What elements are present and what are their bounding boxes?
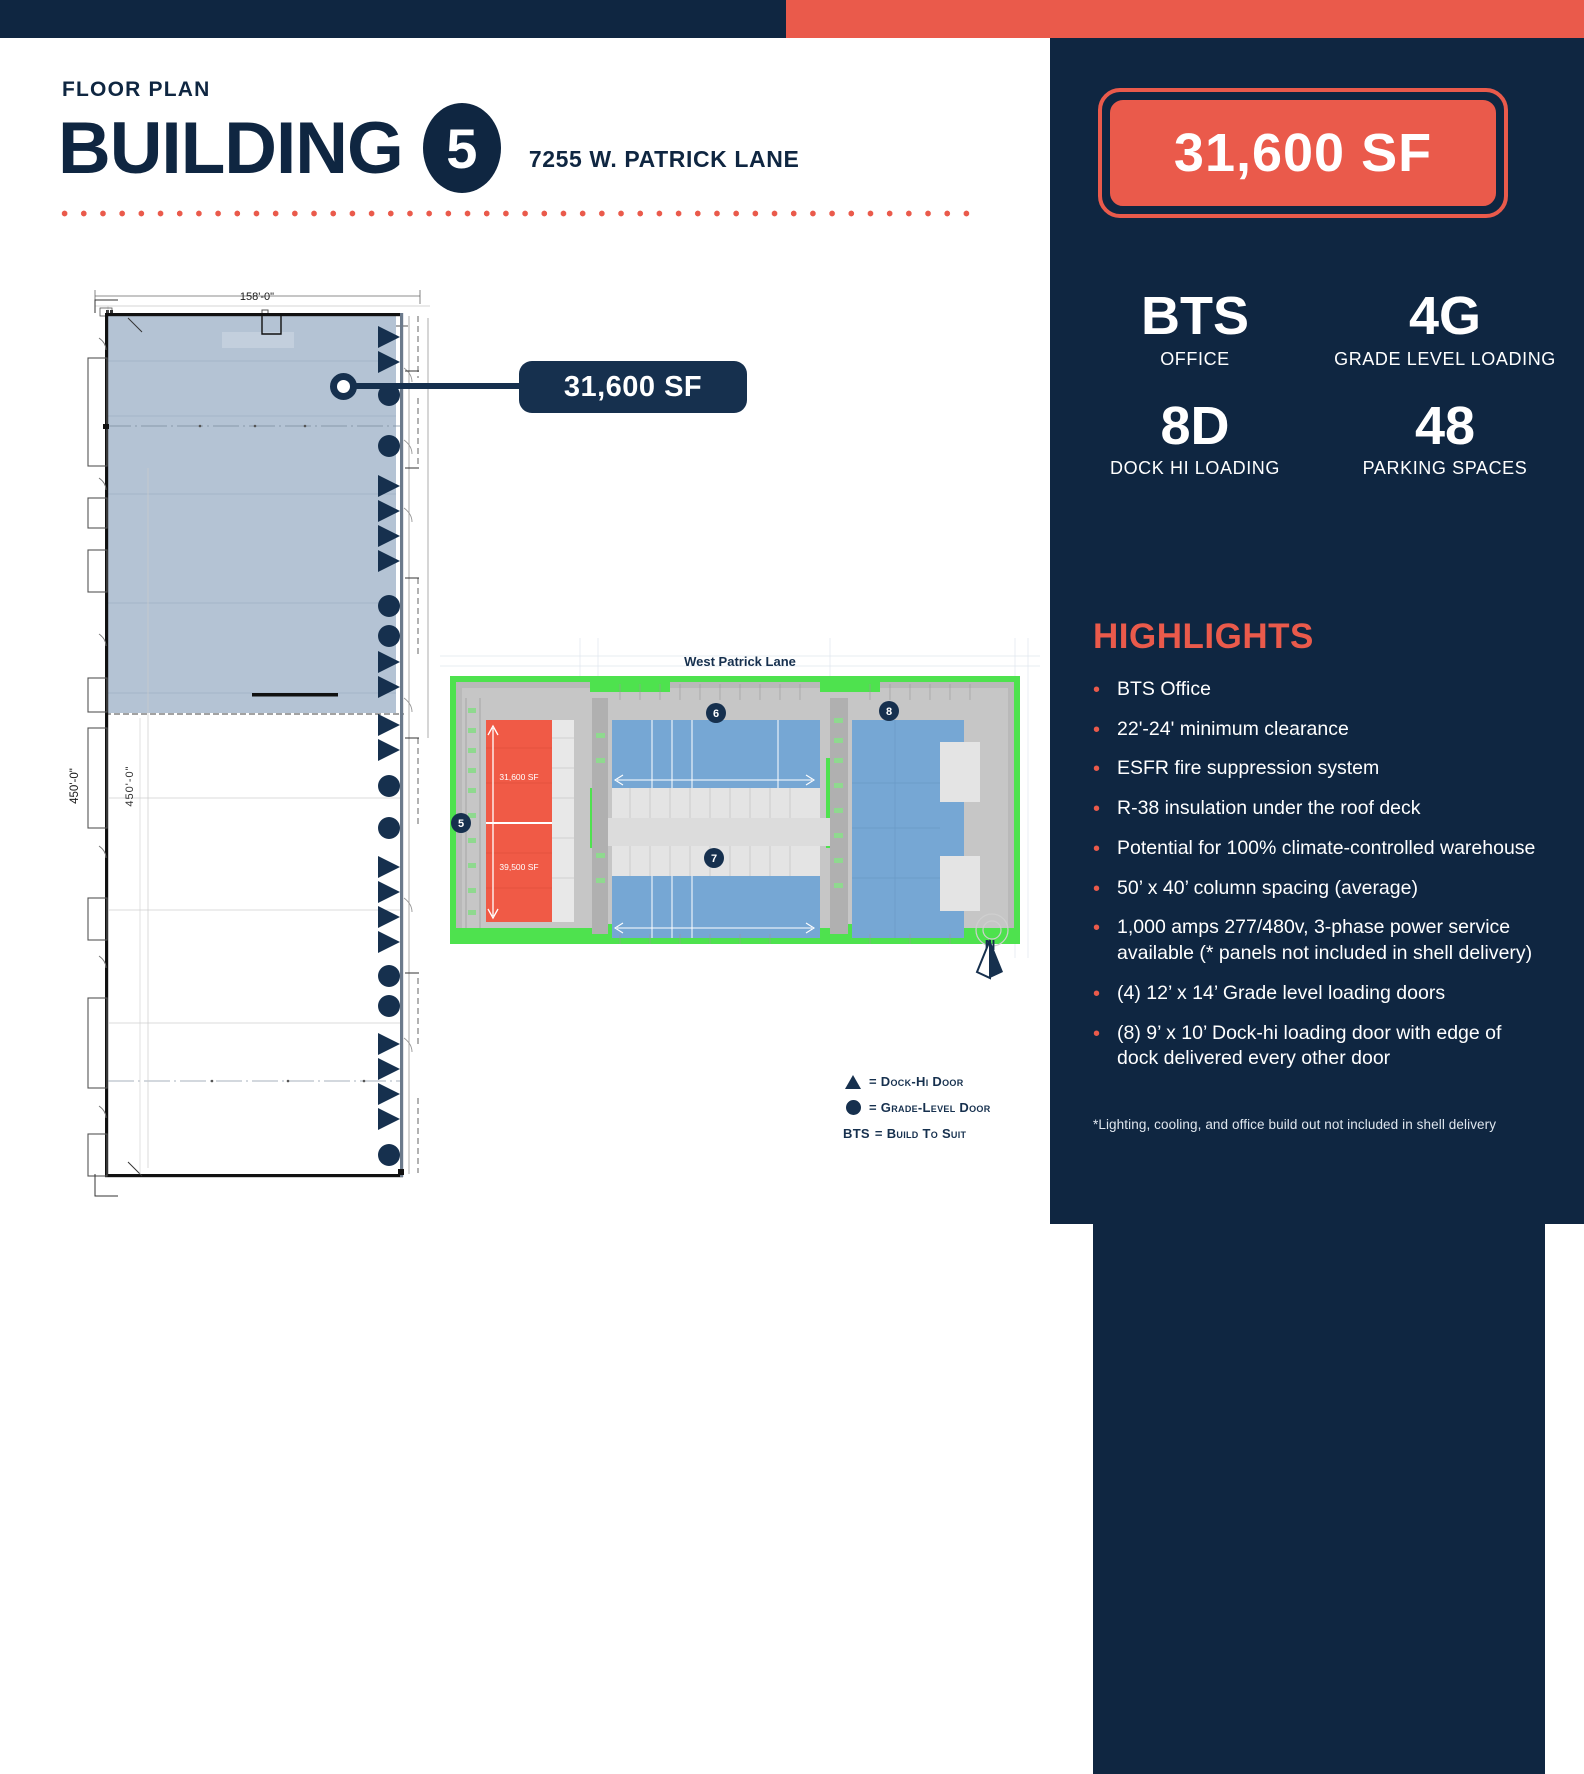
stat-parking-label: PARKING SPACES xyxy=(1320,458,1570,479)
list-item: • 50’ x 40’ column spacing (average) xyxy=(1093,876,1543,902)
svg-text:158'-0": 158'-0" xyxy=(240,291,274,303)
stats-grid: BTS OFFICE 4G GRADE LEVEL LOADING 8D DOC… xyxy=(1070,288,1570,507)
svg-text:450'-0": 450'-0" xyxy=(69,768,81,804)
top-banner xyxy=(0,0,1584,38)
floorplan-sf-callout: 31,600 SF xyxy=(519,361,747,413)
list-item: • (8) 9’ x 10’ Dock-hi loading door with… xyxy=(1093,1021,1543,1072)
legend-bts-label: = Build To Suit xyxy=(875,1126,966,1141)
svg-text:5: 5 xyxy=(458,818,464,830)
list-item: • ESFR fire suppression system xyxy=(1093,756,1543,782)
bullet-icon: • xyxy=(1093,836,1117,862)
legend-row-grade-level: = Grade-Level Door xyxy=(843,1099,1043,1116)
list-item: • 22'-24' minimum clearance xyxy=(1093,717,1543,743)
left-panel: FLOOR PLAN BUILDING 5 7255 W. PATRICK LA… xyxy=(0,38,1050,1224)
legend-row-dock-hi: = Dock-Hi Door xyxy=(843,1073,1043,1090)
stat-dock-hi-value: 8D xyxy=(1070,398,1320,455)
list-item: • BTS Office xyxy=(1093,677,1543,703)
bullet-icon: • xyxy=(1093,756,1117,782)
callout-leader-line xyxy=(345,383,525,389)
siteplan-marker-8: 8 xyxy=(879,701,899,721)
bullet-icon: • xyxy=(1093,796,1117,822)
stat-office-label: OFFICE xyxy=(1070,349,1320,370)
siteplan-suite-b-label: 39,500 SF xyxy=(499,862,538,872)
floor-plan-flyer: FLOOR PLAN BUILDING 5 7255 W. PATRICK LA… xyxy=(0,0,1584,1224)
stat-parking-spaces: 48 PARKING SPACES xyxy=(1320,398,1570,480)
bullet-icon: • xyxy=(1093,677,1117,703)
stat-grade-level-value: 4G xyxy=(1320,288,1570,345)
stat-office: BTS OFFICE xyxy=(1070,288,1320,370)
north-arrow-icon xyxy=(970,938,1010,982)
legend-grade-level-label: = Grade-Level Door xyxy=(869,1100,991,1115)
stats-row-1: BTS OFFICE 4G GRADE LEVEL LOADING xyxy=(1070,288,1570,398)
stat-office-value: BTS xyxy=(1070,288,1320,345)
list-item: • Potential for 100% climate-controlled … xyxy=(1093,836,1543,862)
banner-coral-block xyxy=(786,0,1584,38)
stat-parking-value: 48 xyxy=(1320,398,1570,455)
floorplan-legend: = Dock-Hi Door = Grade-Level Door BTS = … xyxy=(843,1073,1043,1151)
legend-bts-key: BTS xyxy=(843,1126,870,1141)
stat-dock-hi-label: DOCK HI LOADING xyxy=(1070,458,1320,479)
list-item: • (4) 12’ x 14’ Grade level loading door… xyxy=(1093,981,1543,1007)
list-item: • 1,000 amps 277/480v, 3-phase power ser… xyxy=(1093,915,1543,966)
legend-row-bts: BTS = Build To Suit xyxy=(843,1125,1043,1142)
list-item: • R-38 insulation under the roof deck xyxy=(1093,796,1543,822)
siteplan-marker-6: 6 xyxy=(706,703,726,723)
siteplan-suite-a-label: 31,600 SF xyxy=(499,772,538,782)
stat-grade-level-loading: 4G GRADE LEVEL LOADING xyxy=(1320,288,1570,370)
svg-text:6: 6 xyxy=(713,708,719,720)
highlights-list: • BTS Office • 22'-24' minimum clearance… xyxy=(1093,677,1543,1086)
svg-text:8: 8 xyxy=(886,706,892,718)
bullet-icon: • xyxy=(1093,876,1117,902)
bullet-icon: • xyxy=(1093,915,1117,966)
bullet-icon: • xyxy=(1093,717,1117,743)
svg-text:7: 7 xyxy=(711,853,717,865)
stats-row-2: 8D DOCK HI LOADING 48 PARKING SPACES xyxy=(1070,398,1570,508)
bullet-icon: • xyxy=(1093,981,1117,1007)
bullet-icon: • xyxy=(1093,1021,1117,1072)
siteplan-marker-5: 5 xyxy=(451,813,471,833)
siteplan-street-label: West Patrick Lane xyxy=(684,654,796,669)
svg-text:450'-0": 450'-0" xyxy=(124,765,136,806)
banner-navy-block xyxy=(0,0,786,38)
sf-badge: 31,600 SF xyxy=(1098,88,1508,218)
callout-anchor-ring xyxy=(330,373,357,400)
siteplan-marker-7: 7 xyxy=(704,848,724,868)
highlights-title: HIGHLIGHTS xyxy=(1093,617,1314,657)
sf-badge-value: 31,600 SF xyxy=(1107,97,1499,209)
floor-plan-drawing: 158'-0" xyxy=(0,38,1050,1224)
dock-hi-door-icon xyxy=(843,1075,863,1089)
north-arrow: N xyxy=(970,938,1010,953)
site-plan: 31,600 SF 39,500 SF xyxy=(440,638,1040,958)
grade-level-door-icon xyxy=(843,1100,863,1115)
stat-grade-level-label: GRADE LEVEL LOADING xyxy=(1320,349,1570,370)
stat-dock-hi-loading: 8D DOCK HI LOADING xyxy=(1070,398,1320,480)
sidebar-footnote: *Lighting, cooling, and office build out… xyxy=(1093,1117,1543,1132)
legend-dock-hi-label: = Dock-Hi Door xyxy=(869,1074,964,1089)
